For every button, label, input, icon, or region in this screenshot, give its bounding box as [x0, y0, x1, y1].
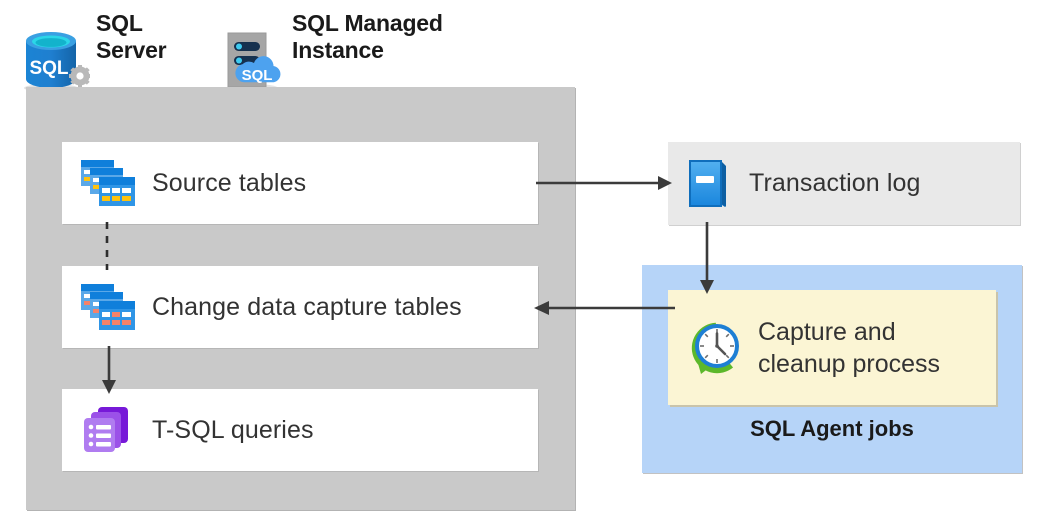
capture-label-line1: Capture and [758, 316, 940, 348]
sql-managed-instance-title-line1: SQL Managed [292, 10, 512, 37]
sql-server-title-line2: Server [96, 37, 216, 64]
sql-managed-instance-title: SQL Managed Instance [292, 10, 512, 64]
svg-text:SQL: SQL [29, 58, 68, 79]
tsql-queries-icon [80, 405, 138, 455]
sql-server-title: SQL Server [96, 10, 216, 64]
t-sql-queries-box[interactable]: T-SQL queries [62, 389, 538, 471]
source-tables-icon [80, 158, 138, 208]
connector-source-to-transaction-log [536, 168, 676, 198]
sql-managed-instance-icon: SQL [220, 25, 292, 93]
svg-text:SQL: SQL [242, 67, 273, 84]
capture-and-cleanup-process-box[interactable]: Capture and cleanup process [668, 290, 996, 405]
capture-label-line2: cleanup process [758, 348, 940, 380]
sql-server-title-line1: SQL [96, 10, 216, 37]
change-data-capture-tables-label: Change data capture tables [152, 293, 462, 322]
connector-capture-to-cdc-tables [530, 295, 675, 321]
cdc-tables-icon [80, 282, 138, 332]
capture-and-cleanup-process-label: Capture and cleanup process [758, 316, 940, 380]
transaction-log-box[interactable]: Transaction log [668, 142, 1020, 225]
transaction-log-book-icon [685, 158, 733, 210]
connector-cdc-tables-to-tsql-queries [100, 346, 118, 396]
t-sql-queries-label: T-SQL queries [152, 416, 314, 445]
connector-source-tables-to-cdc-tables-dashed [100, 222, 114, 270]
change-data-capture-tables-box[interactable]: Change data capture tables [62, 266, 538, 348]
sql-agent-jobs-label: SQL Agent jobs [642, 416, 1022, 442]
source-tables-label: Source tables [152, 169, 306, 198]
sql-server-database-icon: SQL [18, 25, 90, 93]
transaction-log-label: Transaction log [749, 169, 921, 198]
sql-managed-instance-title-line2: Instance [292, 37, 512, 64]
diagram-canvas: SQL SQL Server [0, 0, 1044, 527]
source-tables-box[interactable]: Source tables [62, 142, 538, 224]
connector-transaction-log-to-capture [692, 222, 722, 297]
clock-refresh-icon [688, 320, 744, 376]
